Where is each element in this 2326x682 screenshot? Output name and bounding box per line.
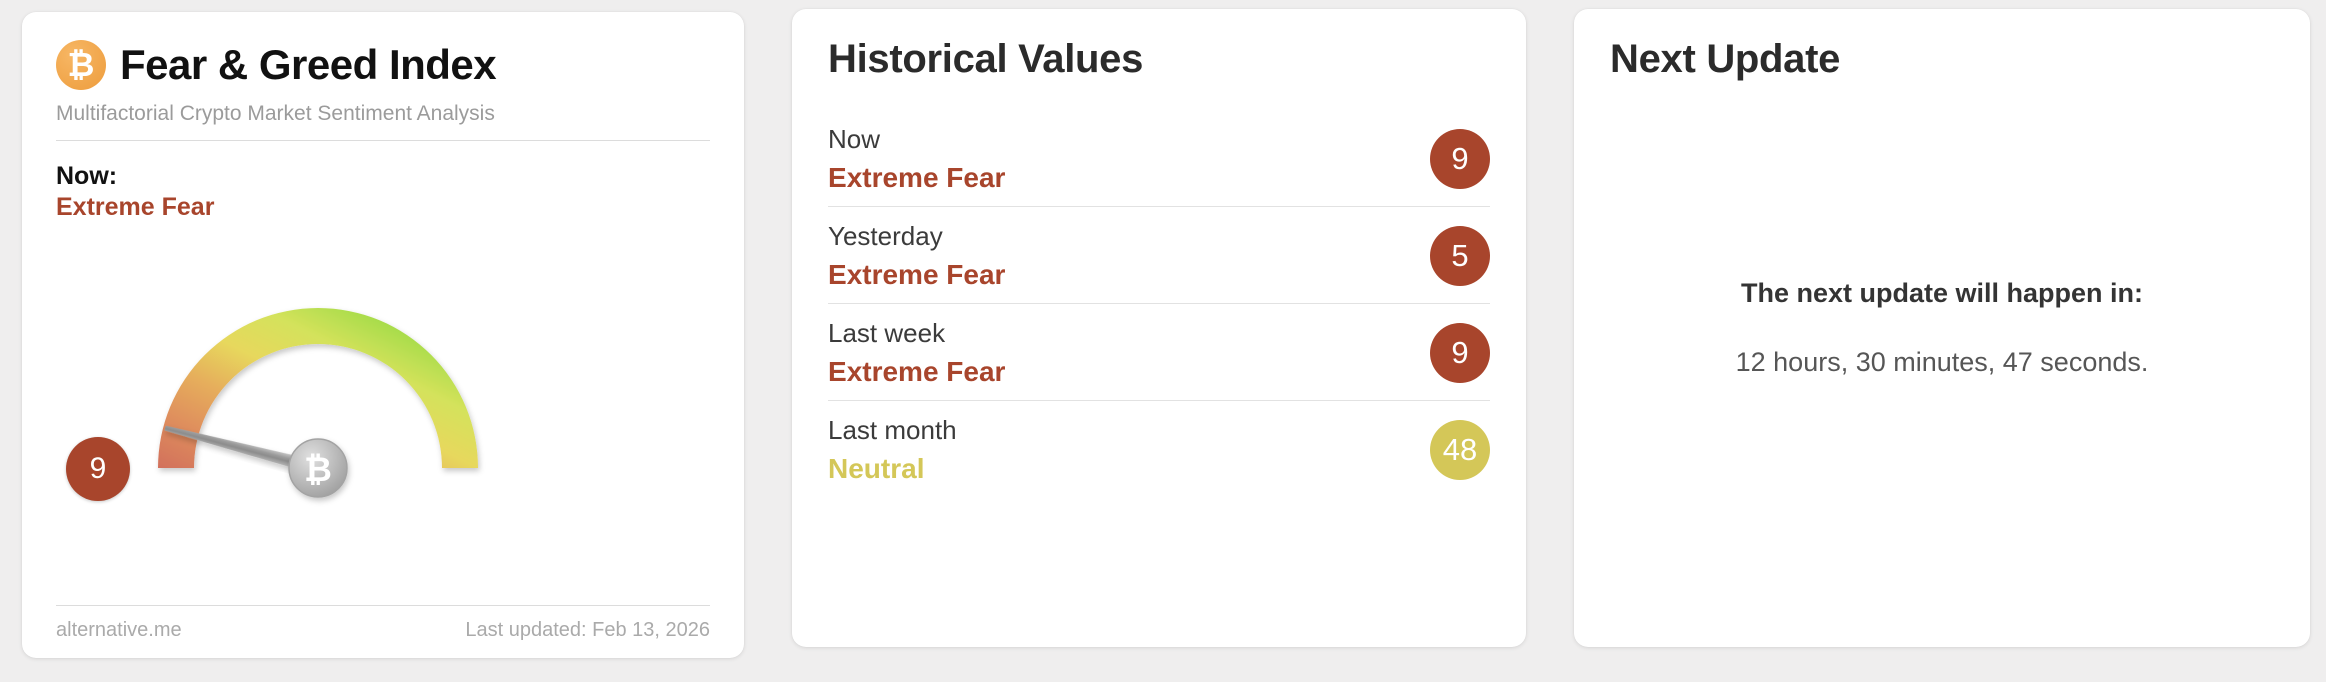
now-classification: Extreme Fear <box>56 192 710 223</box>
now-label: Now: <box>56 161 710 192</box>
next-update-body: The next update will happen in: 12 hours… <box>1574 9 2310 647</box>
list-item-period: Now <box>828 124 1005 155</box>
gauge: ₿ 9 <box>56 228 710 566</box>
next-update-heading: The next update will happen in: <box>1741 278 2143 309</box>
gauge-card-footer: alternative.me Last updated: Feb 13, 202… <box>56 605 710 642</box>
status-badge: 48 <box>1430 420 1490 480</box>
next-update-countdown: 12 hours, 30 minutes, 47 seconds. <box>1736 347 2149 378</box>
list-item[interactable]: Yesterday Extreme Fear 5 <box>828 207 1490 304</box>
list-item-classification: Extreme Fear <box>828 162 1005 194</box>
list-item[interactable]: Now Extreme Fear 9 <box>828 110 1490 207</box>
historical-values-list: Now Extreme Fear 9 Yesterday Extreme Fea… <box>828 110 1490 497</box>
dashboard: ₿ Fear & Greed Index Multifactorial Cryp… <box>0 0 2326 682</box>
list-item-period: Yesterday <box>828 221 1005 252</box>
list-item[interactable]: Last week Extreme Fear 9 <box>828 304 1490 401</box>
gauge-dial: ₿ <box>48 228 648 558</box>
historical-values-title: Historical Values <box>828 37 1490 82</box>
list-item-period: Last week <box>828 318 1005 349</box>
next-update-card: Next Update The next update will happen … <box>1574 9 2310 647</box>
list-item-classification: Extreme Fear <box>828 259 1005 291</box>
list-item-classification: Extreme Fear <box>828 356 1005 388</box>
status-badge: 9 <box>1430 323 1490 383</box>
status-badge: 9 <box>1430 129 1490 189</box>
current-value-badge: 9 <box>66 437 130 501</box>
page-title: Fear & Greed Index <box>120 41 496 89</box>
status-badge: 5 <box>1430 226 1490 286</box>
header-divider <box>56 140 710 141</box>
list-item-period: Last month <box>828 415 957 446</box>
brand-row: ₿ Fear & Greed Index <box>56 40 710 90</box>
fear-greed-index-card: ₿ Fear & Greed Index Multifactorial Cryp… <box>22 12 744 658</box>
source-link[interactable]: alternative.me <box>56 619 182 642</box>
needle-hub-glyph: ₿ <box>304 450 332 490</box>
page-subtitle: Multifactorial Crypto Market Sentiment A… <box>56 102 710 126</box>
list-item[interactable]: Last month Neutral 48 <box>828 401 1490 497</box>
bitcoin-icon: ₿ <box>56 40 106 90</box>
last-updated-text: Last updated: Feb 13, 2026 <box>465 619 710 642</box>
bitcoin-glyph: ₿ <box>68 48 95 81</box>
historical-values-card: Historical Values Now Extreme Fear 9 Yes… <box>792 9 1526 647</box>
list-item-classification: Neutral <box>828 453 957 485</box>
